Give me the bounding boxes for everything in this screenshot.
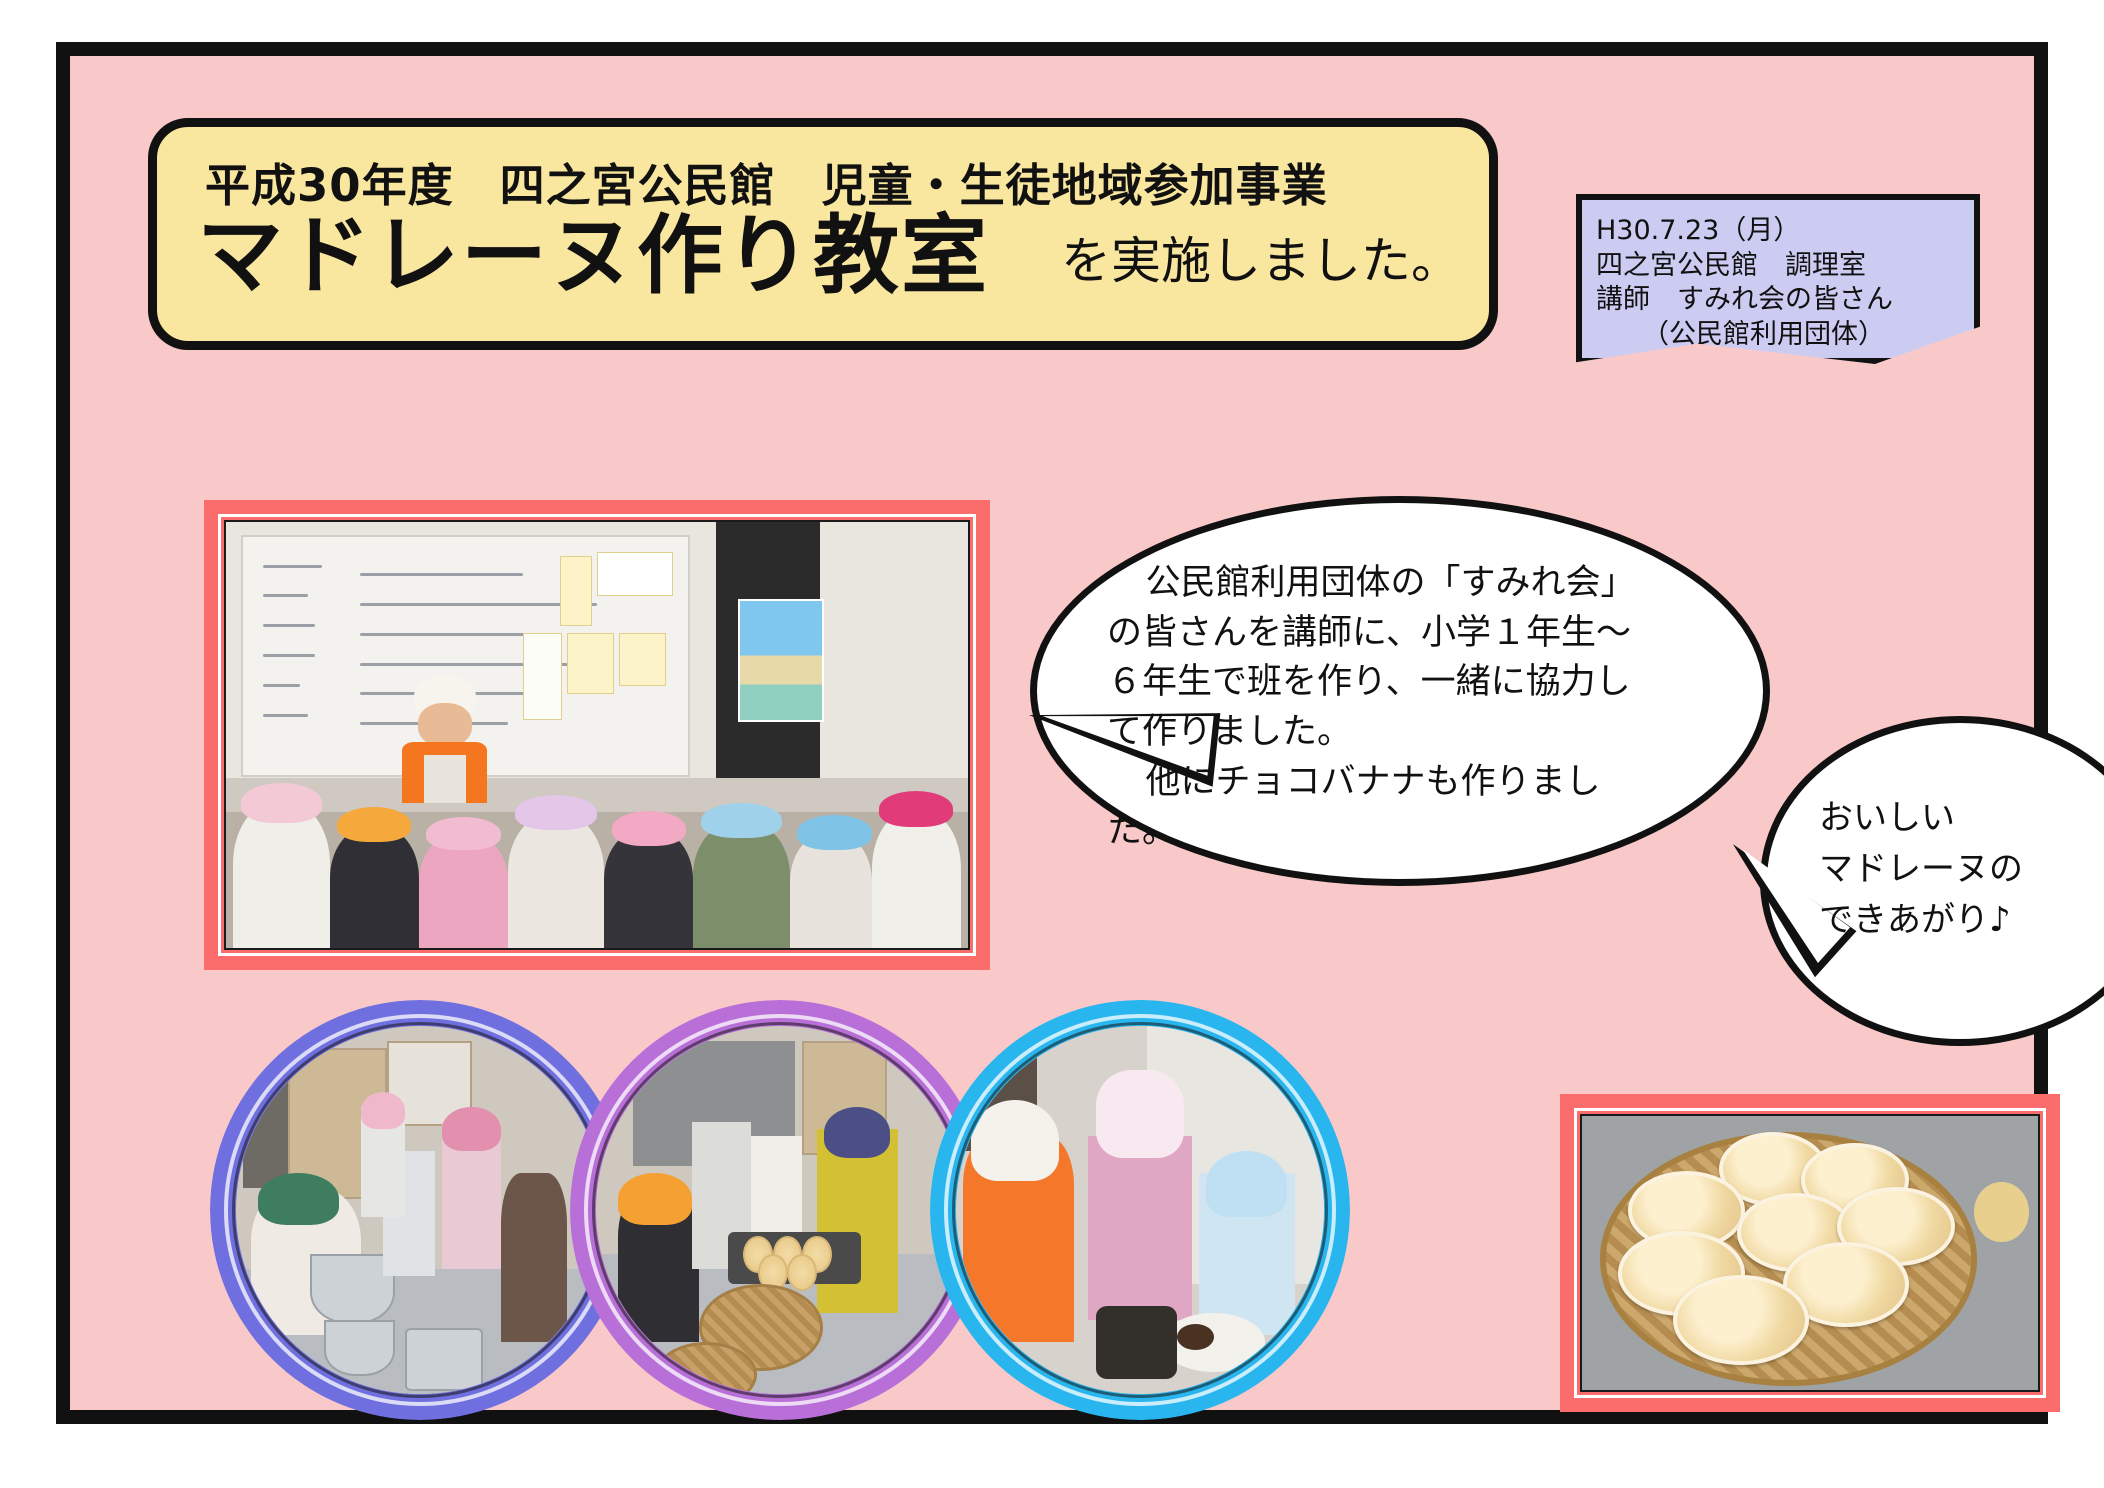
- title-box: 平成30年度 四之宮公民館 児童・生徒地域参加事業 マドレーヌ作り教室 を実施し…: [148, 118, 1498, 350]
- small-speech-bubble: おいしい マドレーヌの できあがり♪: [1760, 716, 2104, 1046]
- small-bubble-line-3: できあがり♪: [1819, 895, 2104, 946]
- classroom-lesson-photo: [204, 500, 990, 970]
- poster-frame: 平成30年度 四之宮公民館 児童・生徒地域参加事業 マドレーヌ作り教室 を実施し…: [56, 42, 2048, 1424]
- poster-subtitle: 平成30年度 四之宮公民館 児童・生徒地域参加事業: [205, 149, 1328, 214]
- kitchen-baking-photo: [570, 1000, 990, 1420]
- bubble-line-1: 公民館利用団体の「すみれ会」: [1107, 559, 1727, 609]
- madeleines-photo-image: [1582, 1116, 2038, 1390]
- main-bubble-text: 公民館利用団体の「すみれ会」 の皆さんを講師に、小学１年生～ ６年生で班を作り、…: [1107, 559, 1727, 857]
- bubble-line-3: ６年生で班を作り、一緒に協力し: [1107, 658, 1727, 708]
- page-title: マドレーヌ作り教室: [197, 213, 989, 299]
- circle-photo-image-2: [596, 1026, 964, 1394]
- bubble-line-6: た。: [1107, 807, 1727, 857]
- poster-page: 平成30年度 四之宮公民館 児童・生徒地域参加事業 マドレーヌ作り教室 を実施し…: [0, 0, 2104, 1488]
- chocolate-banana-photo: [930, 1000, 1350, 1420]
- circle-photo-image-1: [236, 1026, 604, 1394]
- info-date: H30.7.23（月）: [1596, 214, 1974, 249]
- finished-madeleines-photo: [1560, 1094, 2060, 1412]
- info-instructor-note: （公民館利用団体）: [1596, 318, 1974, 353]
- kitchen-mixing-photo: [210, 1000, 630, 1420]
- title-tail-text: を実施しました。: [1061, 221, 1461, 299]
- small-bubble-line-2: マドレーヌの: [1819, 844, 2104, 895]
- title-row: マドレーヌ作り教室 を実施しました。: [197, 213, 1461, 299]
- bubble-line-5: 他にチョコバナナも作りまし: [1107, 758, 1727, 808]
- event-info-box: H30.7.23（月） 四之宮公民館 調理室 講師 すみれ会の皆さん （公民館利…: [1576, 194, 1980, 364]
- main-speech-bubble: 公民館利用団体の「すみれ会」 の皆さんを講師に、小学１年生～ ６年生で班を作り、…: [1030, 496, 1770, 886]
- circle-photo-image-3: [956, 1026, 1324, 1394]
- bubble-line-2: の皆さんを講師に、小学１年生～: [1107, 609, 1727, 659]
- info-venue: 四之宮公民館 調理室: [1596, 249, 1974, 284]
- classroom-photo-image: [226, 522, 968, 948]
- bubble-line-4: て作りました。: [1107, 708, 1727, 758]
- info-instructor: 講師 すみれ会の皆さん: [1596, 283, 1974, 318]
- small-bubble-text: おいしい マドレーヌの できあがり♪: [1819, 793, 2104, 946]
- small-bubble-line-1: おいしい: [1819, 793, 2104, 844]
